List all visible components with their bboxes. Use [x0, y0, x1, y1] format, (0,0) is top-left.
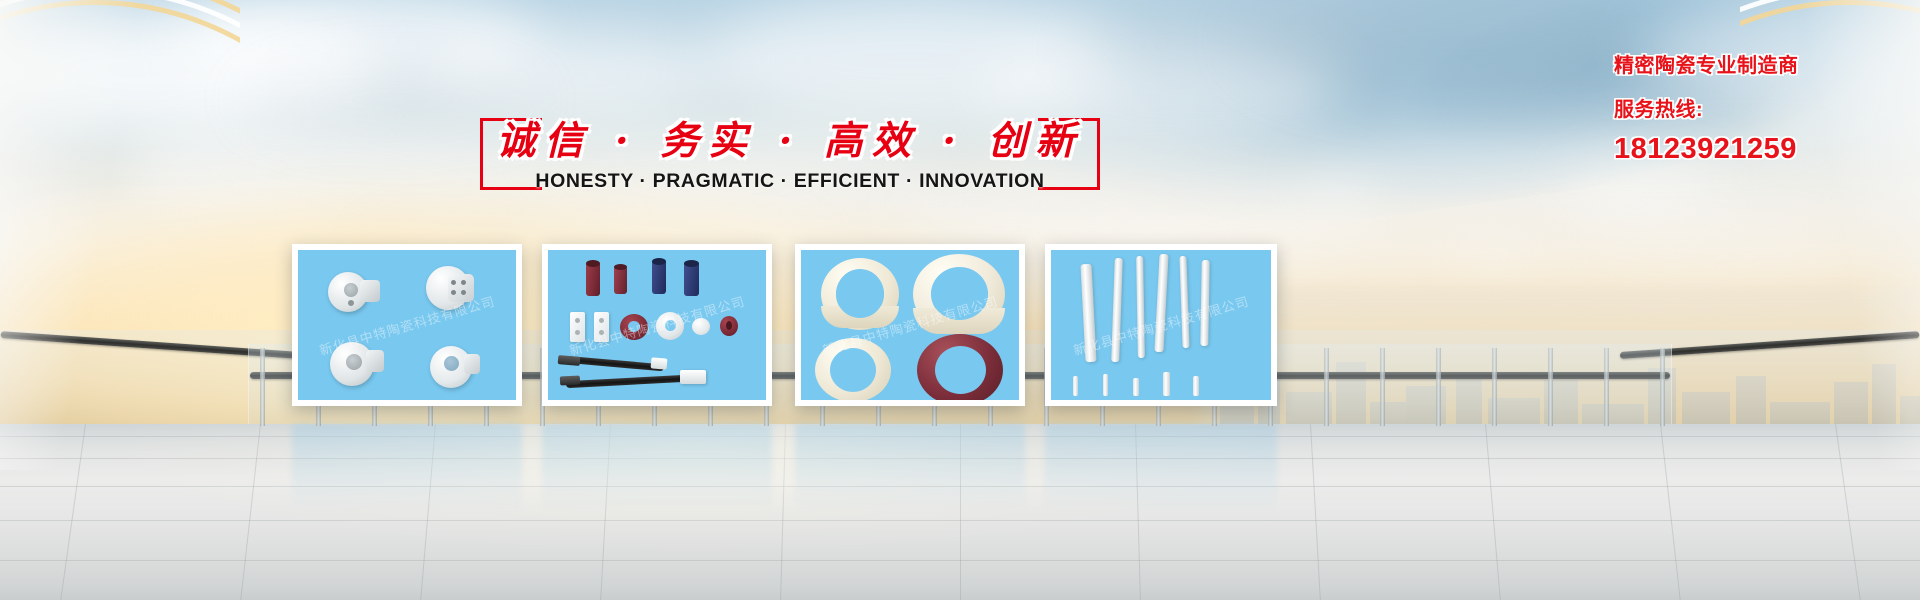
slogan-english: HONESTY · PRAGMATIC · EFFICIENT · INNOVA…	[480, 170, 1100, 193]
product-panel-2[interactable]: 新化县中特陶瓷科技有限公司	[542, 244, 772, 406]
slogan-chinese: 诚信 · 务实 · 高效 · 创新	[480, 110, 1100, 166]
product-panel-2-image: 新化县中特陶瓷科技有限公司	[548, 250, 766, 400]
panel-reflection-4	[1045, 424, 1277, 510]
product-panel-3[interactable]: 新化县中特陶瓷科技有限公司	[795, 244, 1025, 406]
product-panel-1[interactable]: 新化县中特陶瓷科技有限公司	[292, 244, 522, 406]
louver-structure-left	[0, 0, 240, 470]
panel-reflection-1	[292, 424, 522, 510]
panel-reflection-3	[795, 424, 1025, 510]
product-panel-4-image: 新化县中特陶瓷科技有限公司	[1051, 250, 1271, 400]
banner-root: 诚信 · 务实 · 高效 · 创新 HONESTY · PRAGMATIC · …	[0, 0, 1920, 600]
cloud-20	[1060, 8, 1360, 86]
panel-reflection-2	[542, 424, 772, 510]
hotline-label: 服务热线:	[1614, 96, 1864, 126]
contact-info-block: 精密陶瓷专业制造商 服务热线: 18123921259	[1614, 52, 1864, 171]
hotline-number[interactable]: 18123921259	[1614, 128, 1864, 171]
product-panel-4[interactable]: 新化县中特陶瓷科技有限公司	[1045, 244, 1277, 406]
product-panel-3-image: 新化县中特陶瓷科技有限公司	[801, 250, 1019, 400]
company-tagline: 精密陶瓷专业制造商	[1614, 52, 1864, 82]
product-panel-1-image: 新化县中特陶瓷科技有限公司	[298, 250, 516, 400]
slogan-block: 诚信 · 务实 · 高效 · 创新 HONESTY · PRAGMATIC · …	[480, 104, 1100, 200]
